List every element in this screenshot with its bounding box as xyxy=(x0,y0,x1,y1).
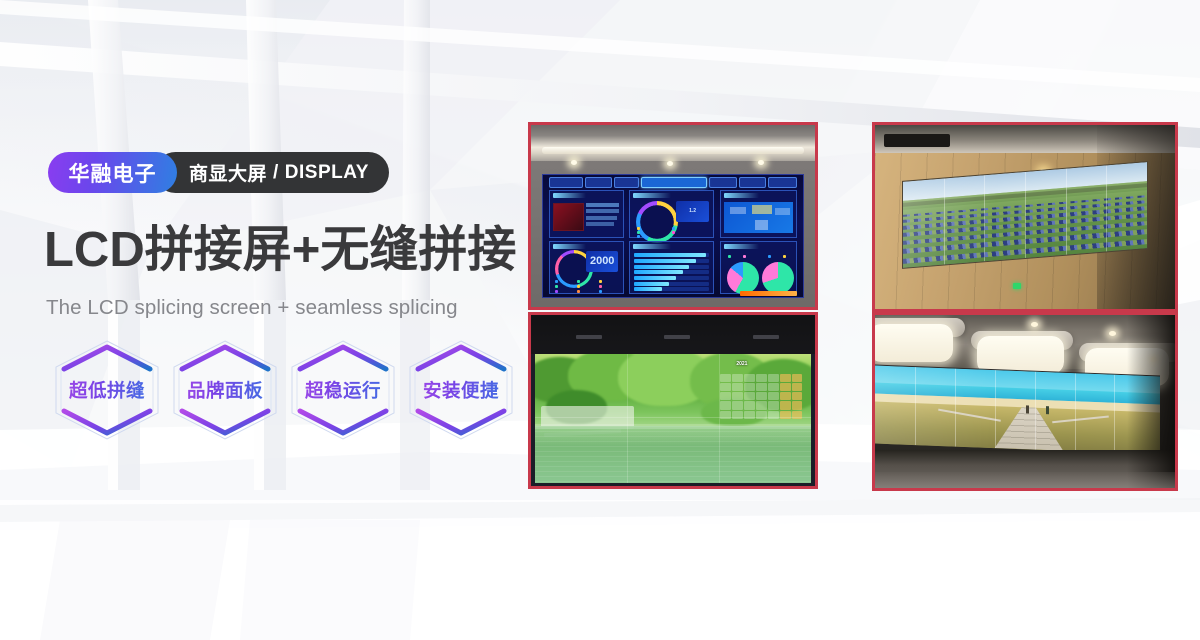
category-tag: 商显大屏 / DISPLAY xyxy=(155,152,389,193)
feature-label-3: 超稳运行 xyxy=(284,337,402,443)
feature-label-2: 品牌面板 xyxy=(166,337,284,443)
product-photo-grid: 1.2 xyxy=(528,122,1180,492)
feature-hexagon-1: 超低拼缝 xyxy=(48,337,166,443)
feature-hexagon-list: 超低拼缝 品牌面板 超稳运行 xyxy=(48,337,518,443)
photo-solar-farm-video-wall xyxy=(872,122,1178,312)
page-subtitle: The LCD splicing screen + seamless splic… xyxy=(46,296,458,320)
feature-label-1: 超低拼缝 xyxy=(48,337,166,443)
photo-willow-lake-video-wall: 2021 xyxy=(528,312,818,489)
willow-lake-screen: 2021 xyxy=(535,354,810,482)
photo-dashboard-video-wall: 1.2 xyxy=(528,122,818,310)
feature-label-4: 安装便捷 xyxy=(402,337,520,443)
page-title: LCD拼接屏+无缝拼接 xyxy=(44,226,516,275)
beach-boardwalk-screen xyxy=(875,365,1160,455)
photo-beach-boardwalk-video-wall xyxy=(872,312,1178,491)
feature-hexagon-3: 超稳运行 xyxy=(284,337,402,443)
category-tag-en: DISPLAY xyxy=(285,162,369,184)
calendar-overlay: 2021 xyxy=(720,361,803,423)
brand-tag-group: 华融电子 商显大屏 / DISPLAY xyxy=(48,152,389,193)
category-tag-cn: 商显大屏 xyxy=(189,159,267,186)
promo-banner: 华融电子 商显大屏 / DISPLAY LCD拼接屏+无缝拼接 The LCD … xyxy=(0,0,1200,640)
banner-left-content: 华融电子 商显大屏 / DISPLAY LCD拼接屏+无缝拼接 The LCD … xyxy=(0,0,520,640)
dashboard-screen: 1.2 xyxy=(542,174,803,298)
feature-hexagon-2: 品牌面板 xyxy=(166,337,284,443)
feature-hexagon-4: 安装便捷 xyxy=(402,337,520,443)
brand-tag: 华融电子 xyxy=(48,152,177,193)
category-tag-separator: / xyxy=(273,162,279,184)
